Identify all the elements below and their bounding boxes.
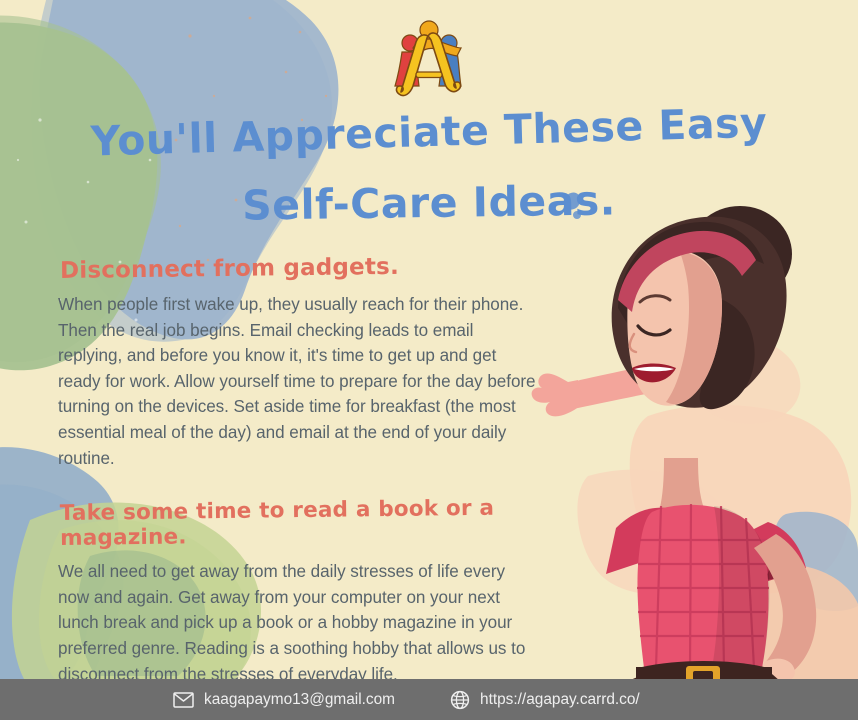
contact-footer-bar: kaagapaymo13@gmail.com https://agapay.ca… <box>0 679 858 720</box>
poster-title: You'll Appreciate These Easy Self-Care I… <box>0 112 858 224</box>
article-content: Disconnect from gadgets. When people fir… <box>58 258 538 693</box>
section-body-disconnect: When people first wake up, they usually … <box>58 292 538 471</box>
footer-email-label: kaagapaymo13@gmail.com <box>204 691 395 709</box>
footer-website-item[interactable]: https://agapay.carrd.co/ <box>450 690 640 710</box>
woman-illustration <box>528 176 858 681</box>
self-care-infographic-poster: You'll Appreciate These Easy Self-Care I… <box>0 0 858 720</box>
agapay-logo <box>383 14 475 106</box>
section-disconnect: Disconnect from gadgets. When people fir… <box>58 258 538 471</box>
section-heading-disconnect: Disconnect from gadgets. <box>60 252 538 284</box>
envelope-icon <box>173 692 194 708</box>
title-line-2: Self-Care Ideas. <box>0 177 858 230</box>
section-heading-read: Take some time to read a book or a magaz… <box>60 495 539 551</box>
footer-website-label: https://agapay.carrd.co/ <box>480 691 640 709</box>
section-body-read: We all need to get away from the daily s… <box>58 559 538 687</box>
footer-email-item[interactable]: kaagapaymo13@gmail.com <box>173 691 395 709</box>
section-read: Take some time to read a book or a magaz… <box>58 501 538 687</box>
globe-icon <box>450 690 470 710</box>
